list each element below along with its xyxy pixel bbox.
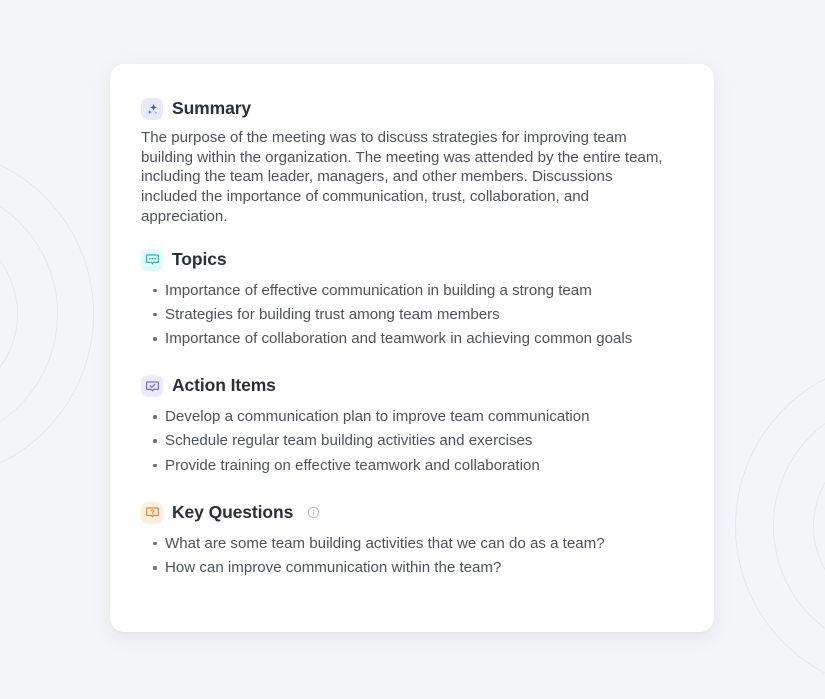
- section-title: Topics: [172, 251, 227, 269]
- section-title: Action Items: [172, 377, 276, 395]
- chat-dots-icon: [141, 249, 163, 271]
- list-item: How can improve communication within the…: [141, 558, 682, 578]
- list-item: Develop a communication plan to improve …: [141, 407, 682, 427]
- decorative-ring: [773, 398, 825, 654]
- list-item: Importance of effective communication in…: [141, 281, 682, 301]
- decorative-ring: [0, 224, 18, 404]
- decorative-ring: [735, 360, 825, 692]
- meeting-notes-card: Summary The purpose of the meeting was t…: [110, 64, 714, 632]
- key-questions-list: What are some team building activities t…: [141, 534, 682, 578]
- info-circle-icon[interactable]: [307, 506, 320, 519]
- section-summary-header: Summary: [141, 98, 682, 120]
- section-summary: Summary The purpose of the meeting was t…: [141, 98, 682, 227]
- section-action-items-header: Action Items: [141, 375, 682, 397]
- spacer: [141, 480, 682, 502]
- section-topics-header: Topics: [141, 249, 682, 271]
- list-item: Provide training on effective teamwork a…: [141, 456, 682, 476]
- section-key-questions-header: Key Questions: [141, 502, 682, 524]
- section-title: Summary: [172, 100, 251, 118]
- list-item: Schedule regular team building activitie…: [141, 431, 682, 451]
- list-item: What are some team building activities t…: [141, 534, 682, 554]
- section-key-questions: Key Questions What are some team buildin…: [141, 502, 682, 578]
- spacer: [141, 227, 682, 249]
- chat-question-icon: [141, 502, 163, 524]
- sparkle-icon: [141, 98, 163, 120]
- spacer: [141, 353, 682, 375]
- decorative-ring: [0, 184, 58, 444]
- decorative-ring: [0, 148, 94, 480]
- summary-body-text: The purpose of the meeting was to discus…: [141, 128, 669, 227]
- chat-check-icon: [141, 375, 163, 397]
- section-action-items: Action Items Develop a communication pla…: [141, 375, 682, 475]
- topics-list: Importance of effective communication in…: [141, 281, 682, 349]
- action-items-list: Develop a communication plan to improve …: [141, 407, 682, 475]
- list-item: Importance of collaboration and teamwork…: [141, 329, 682, 349]
- section-topics: Topics Importance of effective communica…: [141, 249, 682, 349]
- section-title: Key Questions: [172, 504, 293, 522]
- list-item: Strategies for building trust among team…: [141, 305, 682, 325]
- decorative-ring: [813, 438, 825, 614]
